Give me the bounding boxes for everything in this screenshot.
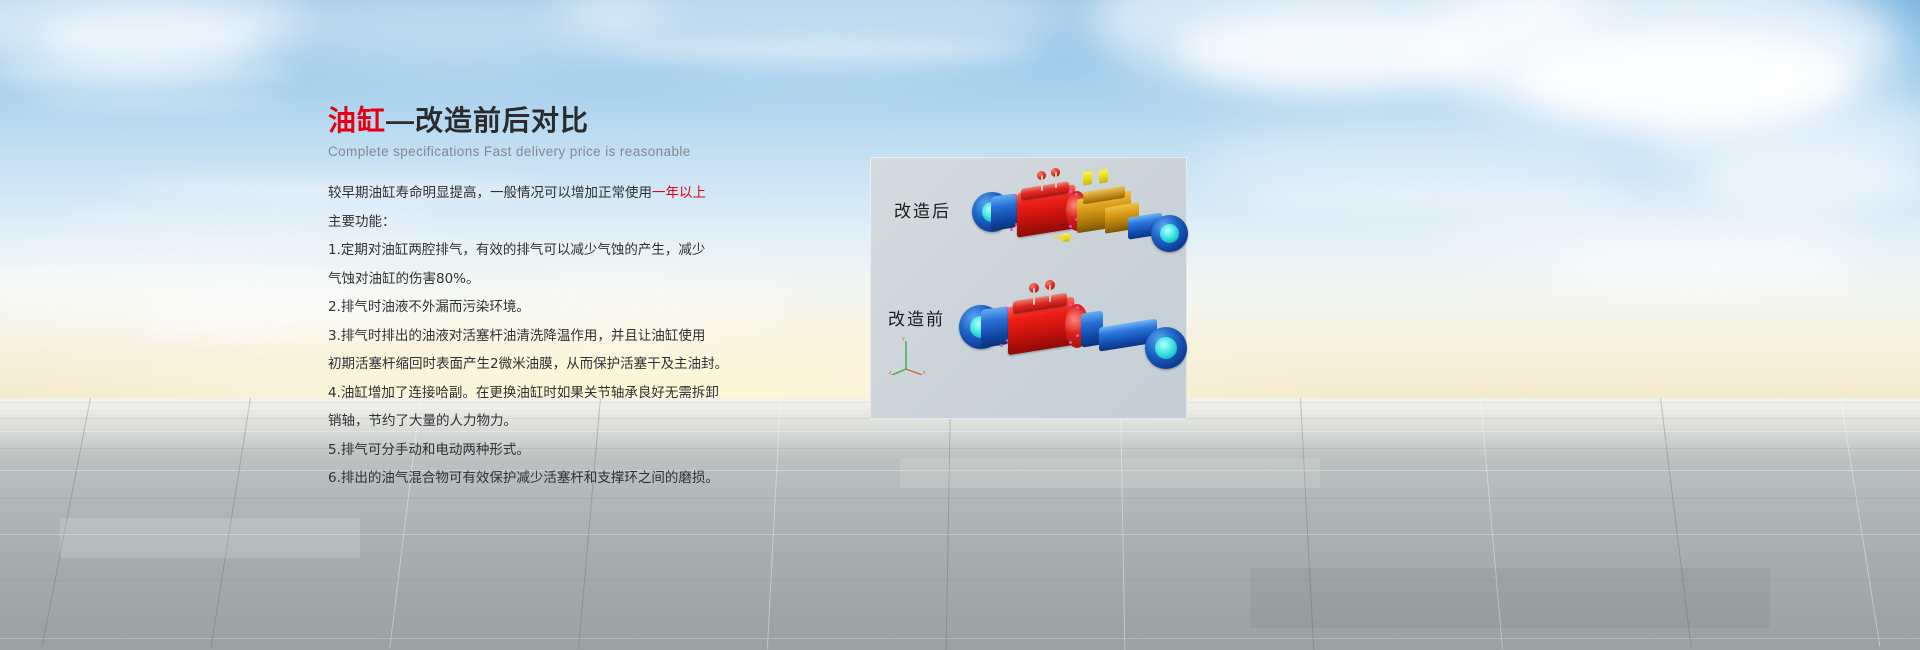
comparison-panel: 改造后 改造前 y x z — [870, 157, 1187, 419]
label-after-modification: 改造后 — [894, 197, 951, 222]
feature-line: 2.排气时油液不外漏而污染环境。 — [328, 295, 748, 321]
feature-line: 6.排出的油气混合物可有效保护减少活塞杆和支撑环之间的磨损。 — [328, 466, 748, 492]
coordinate-axis-icon: y x z — [888, 335, 928, 375]
feature-line: 初期活塞杆缩回时表面产生2微米油膜，从而保护活塞干及主油封。 — [328, 352, 748, 378]
feature-line: 1.定期对油缸两腔排气，有效的排气可以减少气蚀的产生，减少 — [328, 238, 748, 264]
intro-highlight: 一年以上 — [652, 185, 706, 201]
banner-content: 油缸—改造前后对比 Complete specifications Fast d… — [328, 104, 748, 495]
features-heading: 主要功能： — [328, 210, 748, 236]
feature-line: 销轴，节约了大量的人力物力。 — [328, 409, 748, 435]
cylinder-after-modification — [965, 167, 1190, 277]
svg-text:z: z — [889, 370, 892, 375]
page-title: 油缸—改造前后对比 — [328, 104, 748, 138]
cylinder-before-modification — [953, 275, 1188, 395]
svg-text:x: x — [923, 370, 926, 375]
pavement-ground — [0, 398, 1920, 650]
label-before-modification: 改造前 — [888, 305, 945, 330]
title-rest: —改造前后对比 — [386, 105, 589, 136]
feature-line: 5.排气可分手动和电动两种形式。 — [328, 438, 748, 464]
feature-line: 气蚀对油缸的伤害80%。 — [328, 267, 748, 293]
title-highlight: 油缸 — [328, 105, 386, 136]
intro-line: 较早期油缸寿命明显提高，一般情况可以增加正常使用一年以上 — [328, 181, 748, 207]
svg-text:y: y — [902, 336, 905, 342]
feature-line: 4.油缸增加了连接哈副。在更换油缸时如果关节轴承良好无需拆卸 — [328, 381, 748, 407]
intro-text: 较早期油缸寿命明显提高，一般情况可以增加正常使用 — [328, 185, 652, 201]
body-text: 较早期油缸寿命明显提高，一般情况可以增加正常使用一年以上 主要功能： 1.定期对… — [328, 181, 748, 492]
banner-stage: 油缸—改造前后对比 Complete specifications Fast d… — [0, 0, 1920, 650]
feature-line: 3.排气时排出的油液对活塞杆油清洗降温作用，并且让油缸使用 — [328, 324, 748, 350]
page-subtitle: Complete specifications Fast delivery pr… — [328, 144, 748, 159]
